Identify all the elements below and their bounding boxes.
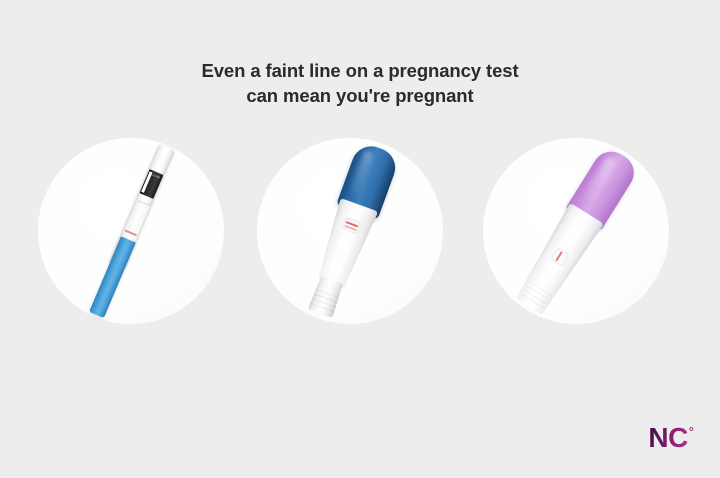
- headline-line-2: can mean you're pregnant: [0, 83, 720, 108]
- poster-canvas: Even a faint line on a pregnancy test ca…: [0, 0, 720, 478]
- product-circle-midstream-lilac: [483, 138, 669, 324]
- product-circle-strip-test: HCG PREGNANCY TEST: [38, 138, 224, 324]
- strip-label-microtext: HCG PREGNANCY TEST: [149, 173, 160, 180]
- logo-wordmark: NC: [648, 424, 687, 452]
- logo-degree-icon: °: [689, 425, 694, 438]
- page-title: Even a faint line on a pregnancy test ca…: [0, 58, 720, 108]
- product-circle-midstream-blue: [257, 138, 443, 324]
- brand-logo: NC °: [648, 424, 694, 452]
- product-circle-row: HCG PREGNANCY TEST: [0, 138, 720, 328]
- faint-test-line: [555, 251, 563, 261]
- headline-line-1: Even a faint line on a pregnancy test: [0, 58, 720, 83]
